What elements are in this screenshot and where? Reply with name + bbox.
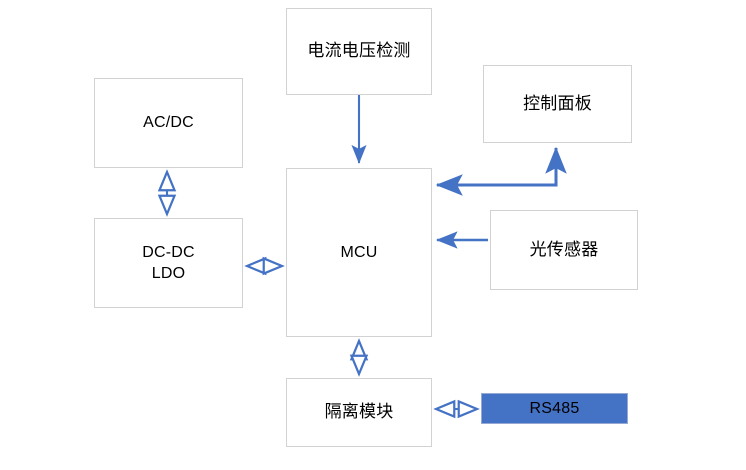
node-label: 隔离模块 <box>325 401 394 423</box>
node-isolation-module[interactable]: 隔离模块 <box>286 378 432 447</box>
connector-mcu-to-control-panel <box>437 148 556 185</box>
node-dc-dc-ldo[interactable]: DC-DC LDO <box>94 218 243 308</box>
node-mcu[interactable]: MCU <box>286 168 432 337</box>
node-label: DC-DC LDO <box>142 242 195 284</box>
node-rs485[interactable]: RS485 <box>481 393 628 424</box>
node-current-voltage-detection[interactable]: 电流电压检测 <box>286 8 432 95</box>
node-label: AC/DC <box>143 112 194 133</box>
node-label: 电流电压检测 <box>307 40 410 62</box>
node-label: RS485 <box>530 398 580 419</box>
node-ac-dc[interactable]: AC/DC <box>94 78 243 168</box>
node-label: 光传感器 <box>530 239 599 261</box>
node-label: 控制面板 <box>523 93 592 115</box>
node-control-panel[interactable]: 控制面板 <box>483 65 632 143</box>
node-light-sensor[interactable]: 光传感器 <box>490 210 638 290</box>
diagram-canvas: 电流电压检测 AC/DC 控制面板 MCU DC-DC LDO 光传感器 隔离模… <box>0 0 746 470</box>
node-label: MCU <box>340 242 377 263</box>
